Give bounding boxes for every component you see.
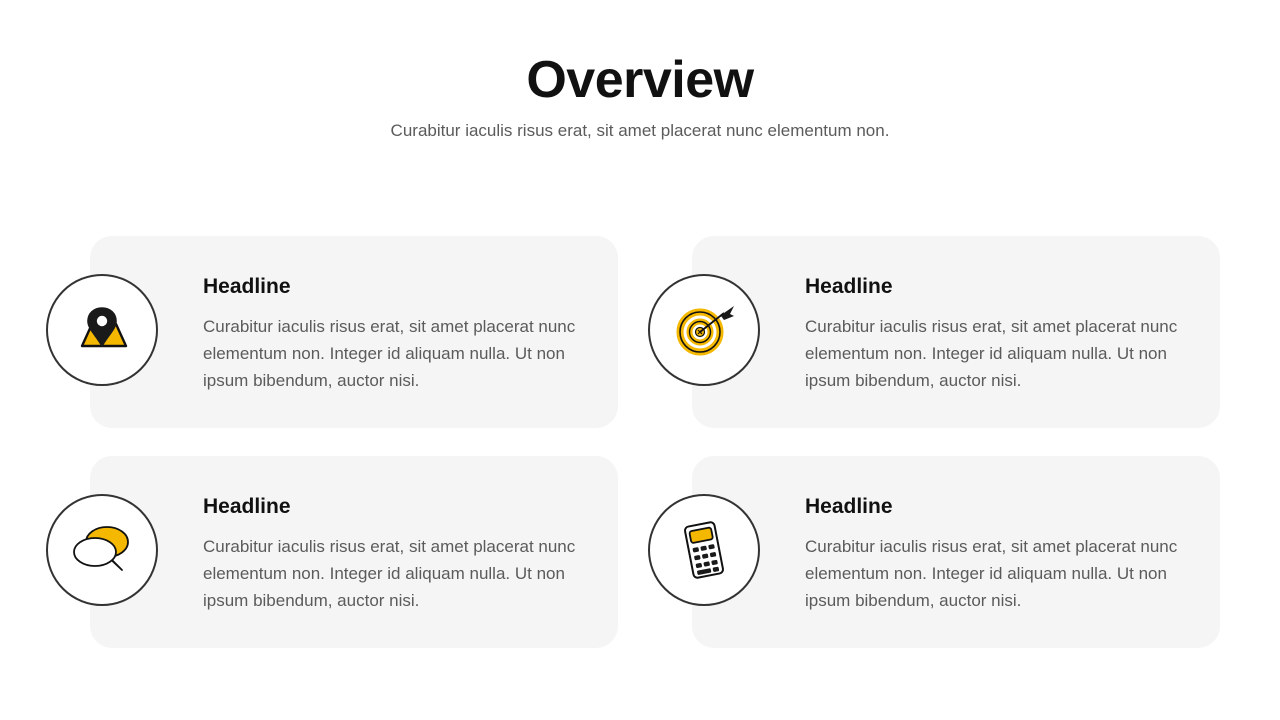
card-item[interactable]: Headline Curabitur iaculis risus erat, s… (90, 236, 618, 428)
card-body: Headline Curabitur iaculis risus erat, s… (805, 274, 1209, 394)
card-body: Headline Curabitur iaculis risus erat, s… (805, 494, 1209, 614)
card-item[interactable]: Headline Curabitur iaculis risus erat, s… (90, 456, 618, 648)
page-title: Overview (0, 50, 1280, 110)
page-subtitle: Curabitur iaculis risus erat, sit amet p… (0, 119, 1280, 143)
card-description: Curabitur iaculis risus erat, sit amet p… (203, 533, 607, 614)
calculator-icon (648, 494, 760, 606)
card-headline: Headline (805, 274, 1209, 300)
card-description: Curabitur iaculis risus erat, sit amet p… (203, 313, 607, 394)
card-description: Curabitur iaculis risus erat, sit amet p… (805, 533, 1209, 614)
card-body: Headline Curabitur iaculis risus erat, s… (203, 494, 607, 614)
map-pin-icon (46, 274, 158, 386)
slide-overview: Overview Curabitur iaculis risus erat, s… (0, 0, 1280, 720)
card-body: Headline Curabitur iaculis risus erat, s… (203, 274, 607, 394)
card-headline: Headline (203, 494, 607, 520)
target-arrow-icon (648, 274, 760, 386)
card-headline: Headline (203, 274, 607, 300)
card-description: Curabitur iaculis risus erat, sit amet p… (805, 313, 1209, 394)
card-headline: Headline (805, 494, 1209, 520)
card-item[interactable]: Headline Curabitur iaculis risus erat, s… (692, 236, 1220, 428)
speech-bubbles-icon (46, 494, 158, 606)
card-item[interactable]: Headline Curabitur iaculis risus erat, s… (692, 456, 1220, 648)
card-grid: Headline Curabitur iaculis risus erat, s… (90, 236, 1218, 644)
